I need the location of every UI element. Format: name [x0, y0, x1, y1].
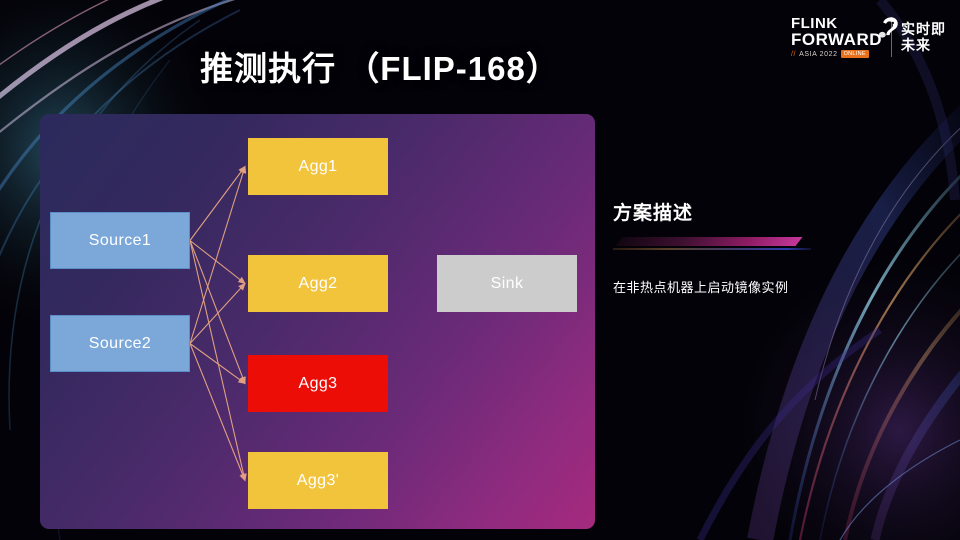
edge-source2-to-agg2: [190, 284, 245, 344]
node-label: Agg1: [299, 158, 338, 176]
node-agg3: Agg3: [248, 355, 388, 412]
edge-source1-to-agg1: [190, 167, 245, 241]
node-label: Agg3: [299, 375, 338, 393]
node-label: Sink: [491, 275, 524, 293]
slide-title: 推测执行 （FLIP-168）: [0, 42, 760, 90]
description-body: 在非热点机器上启动镜像实例: [613, 277, 933, 296]
node-label: Source1: [89, 232, 151, 250]
logo-line-flink: FLINK: [791, 16, 838, 31]
node-agg3p: Agg3': [248, 452, 388, 509]
logo-line-forward: FORWARD: [791, 31, 882, 48]
node-agg1: Agg1: [248, 138, 388, 195]
flink-forward-logo: FLINK FORWARD // ASIA 2022 ONLINE 实时即 未来: [791, 8, 946, 66]
logo-cn-line2: 未来: [901, 37, 946, 53]
edge-source2-to-agg1: [190, 167, 245, 344]
node-label: Agg3': [297, 472, 339, 490]
slide: 推测执行 （FLIP-168） FLINK FORWARD // ASIA 20…: [0, 0, 960, 540]
node-sink: Sink: [437, 255, 577, 312]
node-label: Source2: [89, 335, 151, 353]
description-divider: [613, 237, 933, 255]
description-block: 方案描述 在非热点机器上启动镜像实例: [613, 198, 933, 296]
node-source2: Source2: [50, 315, 190, 372]
logo-slash-mark: //: [791, 51, 796, 58]
logo-online-badge: ONLINE: [841, 50, 869, 58]
logo-event-name: ASIA 2022: [799, 51, 837, 58]
logo-event-line: // ASIA 2022 ONLINE: [791, 50, 869, 58]
node-source1: Source1: [50, 212, 190, 269]
logo-wordmark: FLINK FORWARD // ASIA 2022 ONLINE: [791, 16, 882, 58]
divider-bar-primary: [615, 237, 802, 246]
logo-chinese-tagline: 实时即 未来: [901, 21, 946, 53]
divider-bar-secondary: [613, 248, 811, 250]
diagram-panel: Source1Source2Agg1Agg2Agg3Agg3'Sink: [40, 114, 595, 529]
node-agg2: Agg2: [248, 255, 388, 312]
logo-cn-line1: 实时即: [901, 21, 946, 37]
description-heading: 方案描述: [613, 198, 933, 225]
squirrel-icon: [875, 14, 901, 40]
node-label: Agg2: [299, 275, 338, 293]
